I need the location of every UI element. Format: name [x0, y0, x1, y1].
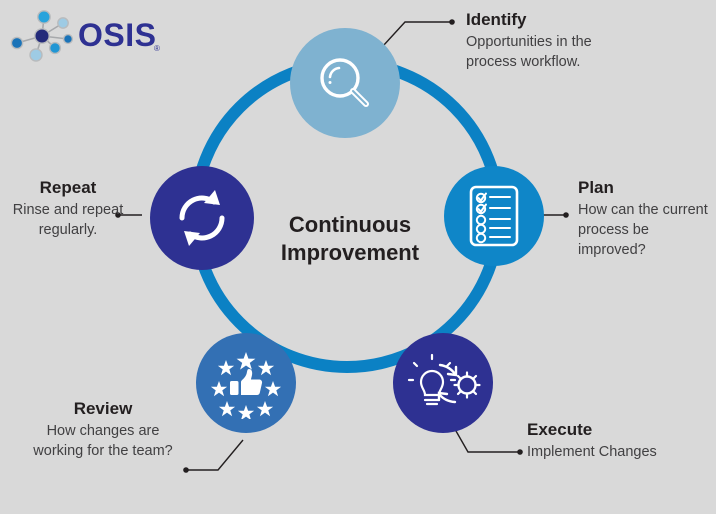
step-label-review: Review How changes are working for the t…: [28, 399, 178, 462]
center-caption-line2: Improvement: [245, 239, 455, 267]
magnifying-glass-icon: [313, 51, 377, 115]
improvement-cycle-wheel: Continuous Improvement: [150, 8, 550, 468]
step-description-review: How changes are working for the team?: [28, 422, 178, 461]
step-title-repeat: Repeat: [12, 178, 124, 198]
leader-dot-review: [183, 467, 189, 473]
step-label-repeat: Repeat Rinse and repeat regularly.: [12, 178, 124, 241]
step-node-identify[interactable]: [290, 28, 400, 138]
step-title-execute: Execute: [527, 420, 712, 440]
center-caption-line1: Continuous: [245, 211, 455, 239]
step-node-execute[interactable]: [393, 333, 493, 433]
step-node-plan[interactable]: [444, 166, 544, 266]
step-label-plan: Plan How can the current process be impr…: [578, 178, 714, 260]
step-title-review: Review: [28, 399, 178, 419]
step-node-review[interactable]: [196, 333, 296, 433]
step-node-repeat[interactable]: [150, 166, 254, 270]
step-label-identify: Identify Opportunities in the process wo…: [466, 10, 646, 73]
refresh-arrows-icon: [170, 186, 234, 250]
leader-dot-plan: [563, 212, 569, 218]
step-description-execute: Implement Changes: [527, 443, 712, 463]
step-description-repeat: Rinse and repeat regularly.: [12, 201, 124, 240]
checklist-clipboard-icon: [463, 183, 525, 249]
continuous-improvement-infographic: OSIS ®: [0, 0, 716, 514]
step-label-execute: Execute Implement Changes: [527, 420, 712, 463]
brand-wordmark: OSIS: [78, 19, 156, 51]
step-description-identify: Opportunities in the process workflow.: [466, 33, 646, 72]
center-caption: Continuous Improvement: [245, 211, 455, 266]
network-nodes-icon: [8, 6, 76, 66]
step-title-plan: Plan: [578, 178, 714, 198]
step-title-identify: Identify: [466, 10, 646, 30]
step-description-plan: How can the current process be improved?: [578, 201, 714, 260]
brand-logo: OSIS ®: [8, 6, 168, 68]
lightbulb-gear-icon: [405, 352, 481, 414]
thumbs-up-stars-icon: [210, 347, 282, 419]
